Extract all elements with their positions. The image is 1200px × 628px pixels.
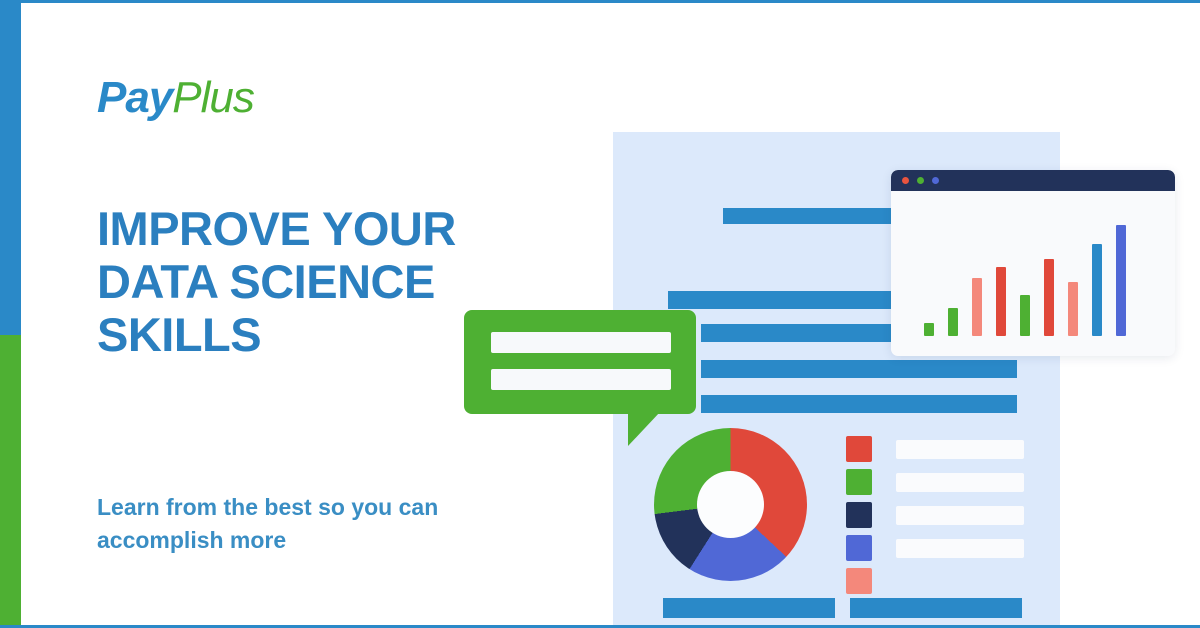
close-dot-icon[interactable] <box>902 177 909 184</box>
document-bar <box>701 360 1017 378</box>
swatch-red <box>846 436 872 462</box>
maximize-dot-icon[interactable] <box>932 177 939 184</box>
legend-label-placeholder <box>896 506 1024 525</box>
minimize-dot-icon[interactable] <box>917 177 924 184</box>
chart-legend <box>846 436 1036 601</box>
legend-label-placeholder <box>896 539 1024 558</box>
bar-chart-bar <box>948 308 958 336</box>
logo-text-plus: Plus <box>172 73 254 122</box>
swatch-salmon <box>846 568 872 594</box>
top-rule <box>0 0 1200 3</box>
bar-chart-bar <box>1116 225 1126 336</box>
bar-chart-bar <box>1092 244 1102 336</box>
bar-chart-bar <box>1044 259 1054 336</box>
document-bar <box>701 395 1017 413</box>
legend-item <box>846 469 1036 495</box>
bubble-text-line-1 <box>491 332 671 353</box>
bubble-text-line-2 <box>491 369 671 390</box>
page-subtitle: Learn from the best so you can accomplis… <box>97 491 497 556</box>
legend-label-placeholder <box>896 473 1024 492</box>
brand-logo: PayPlus <box>97 76 254 120</box>
legend-item <box>846 568 1036 594</box>
poster-canvas: PayPlus IMPROVE YOUR DATA SCIENCE SKILLS… <box>0 0 1200 628</box>
bar-chart-bar <box>1020 295 1030 336</box>
swatch-periwinkle <box>846 535 872 561</box>
legend-item <box>846 436 1036 462</box>
donut-center-hole <box>697 471 764 538</box>
bar-chart-bar <box>1068 282 1078 336</box>
bar-chart <box>891 191 1175 356</box>
donut-chart <box>654 428 807 581</box>
speech-bubble-tail <box>628 412 660 446</box>
bar-chart-bar <box>924 323 934 336</box>
legend-item <box>846 502 1036 528</box>
document-bar <box>850 598 1022 618</box>
side-accent-blue <box>0 0 21 335</box>
side-accent-green <box>0 335 21 625</box>
swatch-green <box>846 469 872 495</box>
document-bar <box>668 291 896 309</box>
swatch-navy <box>846 502 872 528</box>
bar-chart-bar <box>972 278 982 336</box>
logo-text-pay: Pay <box>97 73 172 122</box>
legend-item <box>846 535 1036 561</box>
document-bar <box>663 598 835 618</box>
document-bar <box>723 208 895 224</box>
bar-chart-bar <box>996 267 1006 336</box>
browser-window <box>891 170 1175 356</box>
legend-label-placeholder <box>896 440 1024 459</box>
browser-title-bar <box>891 170 1175 191</box>
speech-bubble-icon <box>464 310 696 414</box>
